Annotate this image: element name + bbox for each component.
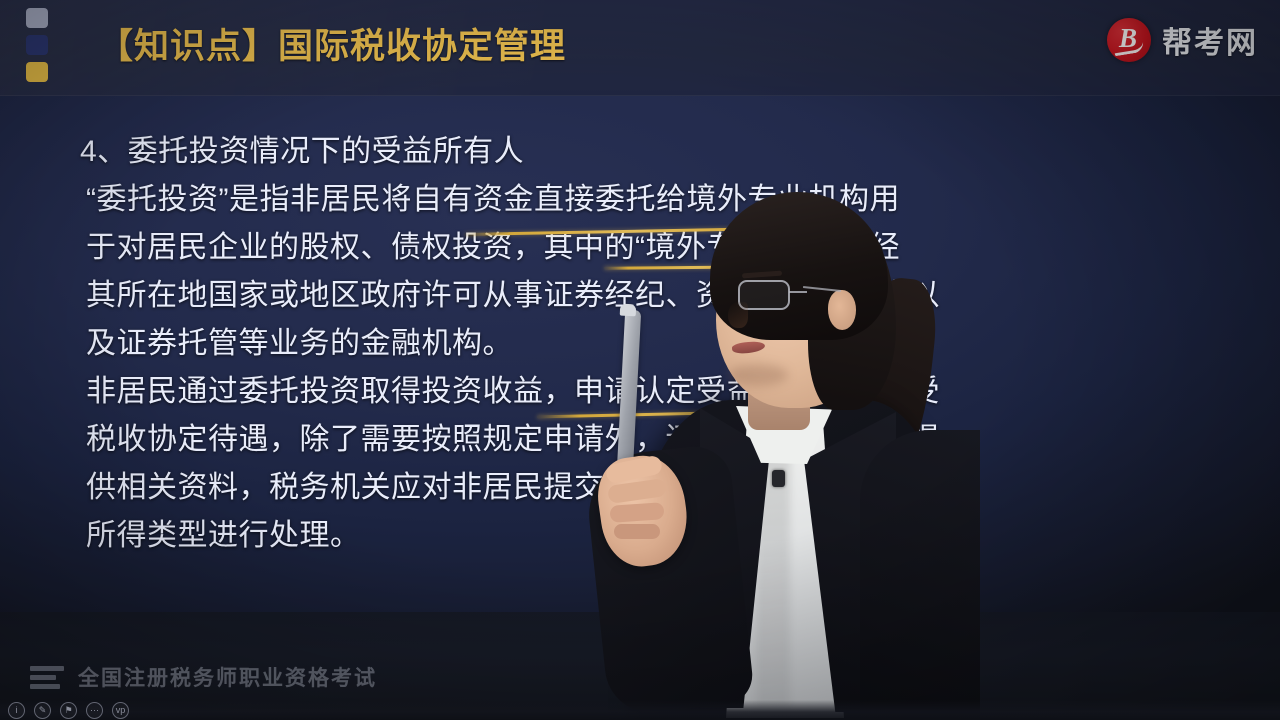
info-icon[interactable]: i [8, 702, 25, 719]
player-toolbar[interactable]: i ✎ ⚑ ··· vp [0, 700, 1280, 720]
watermark: 全国注册税务师职业资格考试 [30, 662, 377, 692]
watermark-bar-3 [30, 684, 60, 689]
flag-icon[interactable]: ⚑ [60, 702, 77, 719]
watermark-bar-1 [30, 666, 64, 671]
watermark-bar-2 [30, 675, 56, 680]
frame-vignette [0, 0, 1280, 720]
video-frame: 【知识点】国际税收协定管理 B 帮考网 4、委托投资情况下的受益所有人 “委托投… [0, 0, 1280, 720]
watermark-mark-icon [30, 664, 64, 690]
more-icon[interactable]: ··· [86, 702, 103, 719]
watermark-text: 全国注册税务师职业资格考试 [78, 662, 377, 692]
edit-icon[interactable]: ✎ [34, 702, 51, 719]
vip-icon[interactable]: vp [112, 702, 129, 719]
